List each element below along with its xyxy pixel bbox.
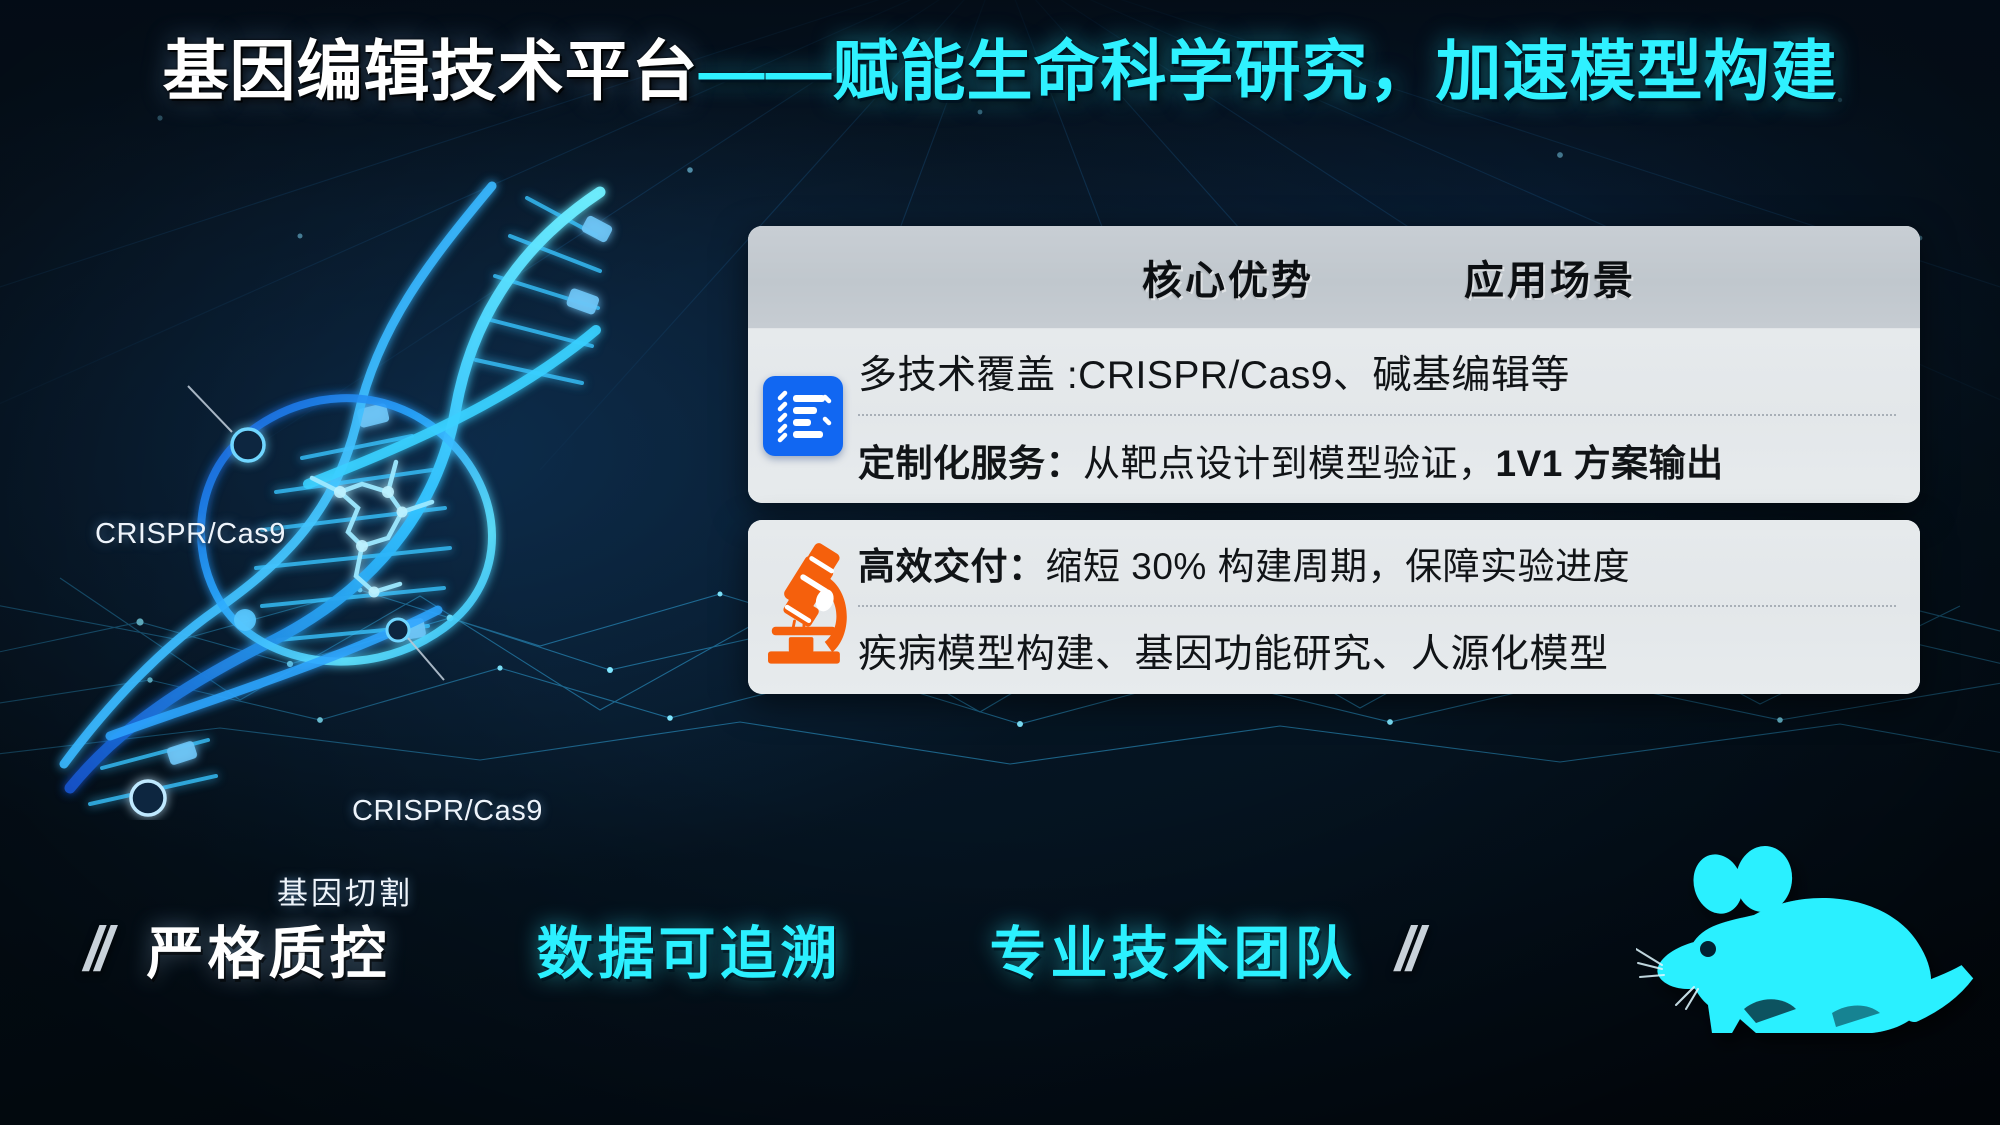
header-application-scenario: 应用场景 — [1464, 248, 1636, 306]
rows-cell: 高效交付：缩短 30% 构建周期，保障实验进度 疾病模型构建、基因功能研究、人源… — [858, 520, 1920, 694]
card-body: 高效交付：缩短 30% 构建周期，保障实验进度 疾病模型构建、基因功能研究、人源… — [748, 520, 1920, 694]
banner-item-expert-team: 专业技术团队 — [955, 908, 1389, 990]
row-multi-tech: 多技术覆盖 :CRISPR/Cas9、碱基编辑等 — [858, 329, 1896, 416]
lab-mouse-icon — [1636, 837, 1986, 1087]
row-text-custom-service: 从靶点设计到模型验证， — [1083, 433, 1496, 487]
dna-label-crispr-bottom: CRISPR/Cas9 — [352, 795, 543, 828]
row-text-scenarios: 疾病模型构建、基因功能研究、人源化模型 — [858, 623, 1609, 679]
slash-left-icon: // — [78, 914, 112, 985]
card-header-row: 核心优势 应用场景 — [748, 226, 1920, 329]
dna-label-gene-cut: 基因切割 — [277, 868, 413, 913]
slide-title: 基因编辑技术平台——赋能生命科学研究，加速模型构建 — [0, 38, 2000, 104]
title-main: 基因编辑技术平台 — [163, 34, 699, 108]
row-text-multi-tech: 多技术覆盖 :CRISPR/Cas9、碱基编辑等 — [858, 344, 1570, 400]
bottom-banner: // 严格质控 数据可追溯 专业技术团队 // — [78, 908, 1424, 990]
slide-canvas: 基因编辑技术平台——赋能生命科学研究，加速模型构建 — [0, 0, 2000, 1125]
row-text-efficient-delivery: 缩短 30% 构建周期，保障实验进度 — [1046, 536, 1631, 590]
dna-label-crispr-top: CRISPR/Cas9 — [95, 518, 286, 551]
leader-line-top — [188, 386, 232, 432]
banner-item-quality-control: 严格质控 — [112, 908, 424, 990]
slash-right-icon: // — [1389, 914, 1423, 985]
rows-cell: 多技术覆盖 :CRISPR/Cas9、碱基编辑等 定制化服务：从靶点设计到模型验… — [858, 329, 1920, 503]
dna-illustration: CRISPR/Cas9 CRISPR/Cas9 基因切割 — [40, 140, 660, 820]
row-lead-custom-service: 定制化服务： — [858, 433, 1083, 487]
leader-line-bottom — [408, 638, 444, 680]
dna-helix-graphic — [40, 140, 660, 820]
card-body: 多技术覆盖 :CRISPR/Cas9、碱基编辑等 定制化服务：从靶点设计到模型验… — [748, 329, 1920, 503]
microscope-icon — [751, 543, 855, 672]
icon-cell — [748, 520, 858, 694]
list-document-icon — [763, 376, 843, 456]
icon-cell — [748, 329, 858, 503]
row-scenarios: 疾病模型构建、基因功能研究、人源化模型 — [858, 607, 1896, 694]
row-efficient-delivery: 高效交付：缩短 30% 构建周期，保障实验进度 — [858, 520, 1896, 607]
card-core-advantage[interactable]: 核心优势 应用场景 — [748, 226, 1920, 503]
row-tail-custom-service: 1V1 方案输出 — [1496, 433, 1724, 487]
row-lead-efficient-delivery: 高效交付： — [858, 536, 1046, 590]
header-core-advantage: 核心优势 — [1142, 248, 1314, 306]
title-sub: ——赋能生命科学研究，加速模型构建 — [699, 34, 1838, 108]
card-application-scenario[interactable]: 高效交付：缩短 30% 构建周期，保障实验进度 疾病模型构建、基因功能研究、人源… — [748, 520, 1920, 694]
banner-item-data-traceable: 数据可追溯 — [502, 908, 875, 990]
row-custom-service: 定制化服务：从靶点设计到模型验证，1V1 方案输出 — [858, 416, 1896, 503]
content-cards: 核心优势 应用场景 — [748, 226, 1920, 694]
